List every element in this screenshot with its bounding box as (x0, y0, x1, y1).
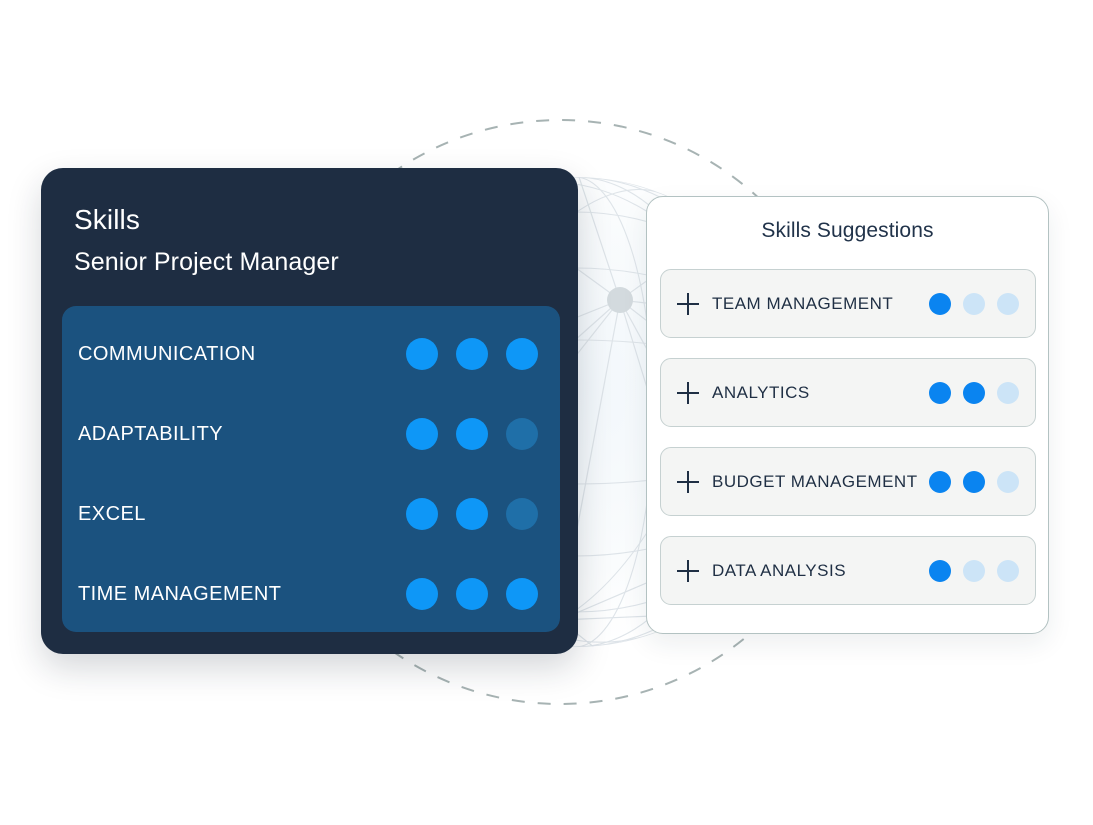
suggestion-row[interactable]: ANALYTICS (660, 358, 1036, 427)
rating-dot-filled (929, 382, 951, 404)
rating-dot-empty (997, 471, 1019, 493)
job-role-subtitle: Senior Project Manager (74, 248, 339, 277)
skill-row-label: COMMUNICATION (78, 343, 256, 366)
rating-dot-filled (929, 560, 951, 582)
skill-rating-dots (406, 578, 538, 610)
rating-dot-filled (963, 382, 985, 404)
suggestion-rating-dots (929, 560, 1019, 582)
suggestion-rating-dots (929, 293, 1019, 315)
rating-dot-empty (963, 293, 985, 315)
skills-suggestions-panel: Skills Suggestions TEAM MANAGEMENTANALYT… (646, 196, 1049, 634)
skill-row[interactable]: EXCEL (62, 484, 560, 544)
rating-dot-filled (506, 338, 538, 370)
suggestion-row[interactable]: DATA ANALYSIS (660, 536, 1036, 605)
plus-icon[interactable] (677, 560, 699, 582)
plus-icon[interactable] (677, 471, 699, 493)
rating-dot-empty (997, 382, 1019, 404)
rating-dot-filled (456, 578, 488, 610)
page-title: Skills (74, 204, 140, 236)
suggestion-row[interactable]: BUDGET MANAGEMENT (660, 447, 1036, 516)
skill-rating-dots (406, 498, 538, 530)
skills-card: Skills Senior Project Manager COMMUNICAT… (41, 168, 578, 654)
rating-dot-filled (929, 471, 951, 493)
skill-rating-dots (406, 338, 538, 370)
rating-dot-empty (506, 418, 538, 450)
rating-dot-filled (963, 471, 985, 493)
skill-row-label: ADAPTABILITY (78, 423, 223, 446)
rating-dot-empty (506, 498, 538, 530)
plus-icon[interactable] (677, 293, 699, 315)
suggestion-rating-dots (929, 382, 1019, 404)
suggestions-title: Skills Suggestions (647, 219, 1048, 243)
rating-dot-filled (406, 338, 438, 370)
skill-row-label: EXCEL (78, 503, 146, 526)
suggestion-label: TEAM MANAGEMENT (712, 294, 893, 314)
suggestion-rating-dots (929, 471, 1019, 493)
skills-list-panel: COMMUNICATIONADAPTABILITYEXCELTIME MANAG… (62, 306, 560, 632)
rating-dot-filled (456, 498, 488, 530)
rating-dot-filled (929, 293, 951, 315)
skill-row[interactable]: ADAPTABILITY (62, 404, 560, 464)
rating-dot-empty (997, 560, 1019, 582)
rating-dot-filled (456, 418, 488, 450)
plus-icon[interactable] (677, 382, 699, 404)
suggestion-label: DATA ANALYSIS (712, 561, 846, 581)
rating-dot-filled (406, 498, 438, 530)
rating-dot-empty (997, 293, 1019, 315)
skill-row[interactable]: COMMUNICATION (62, 324, 560, 384)
suggestion-label: ANALYTICS (712, 383, 810, 403)
rating-dot-empty (963, 560, 985, 582)
rating-dot-filled (406, 578, 438, 610)
rating-dot-filled (406, 418, 438, 450)
rating-dot-filled (506, 578, 538, 610)
suggestion-row[interactable]: TEAM MANAGEMENT (660, 269, 1036, 338)
skill-rating-dots (406, 418, 538, 450)
skill-row[interactable]: TIME MANAGEMENT (62, 564, 560, 624)
rating-dot-filled (456, 338, 488, 370)
skill-row-label: TIME MANAGEMENT (78, 583, 281, 606)
suggestion-label: BUDGET MANAGEMENT (712, 472, 918, 492)
